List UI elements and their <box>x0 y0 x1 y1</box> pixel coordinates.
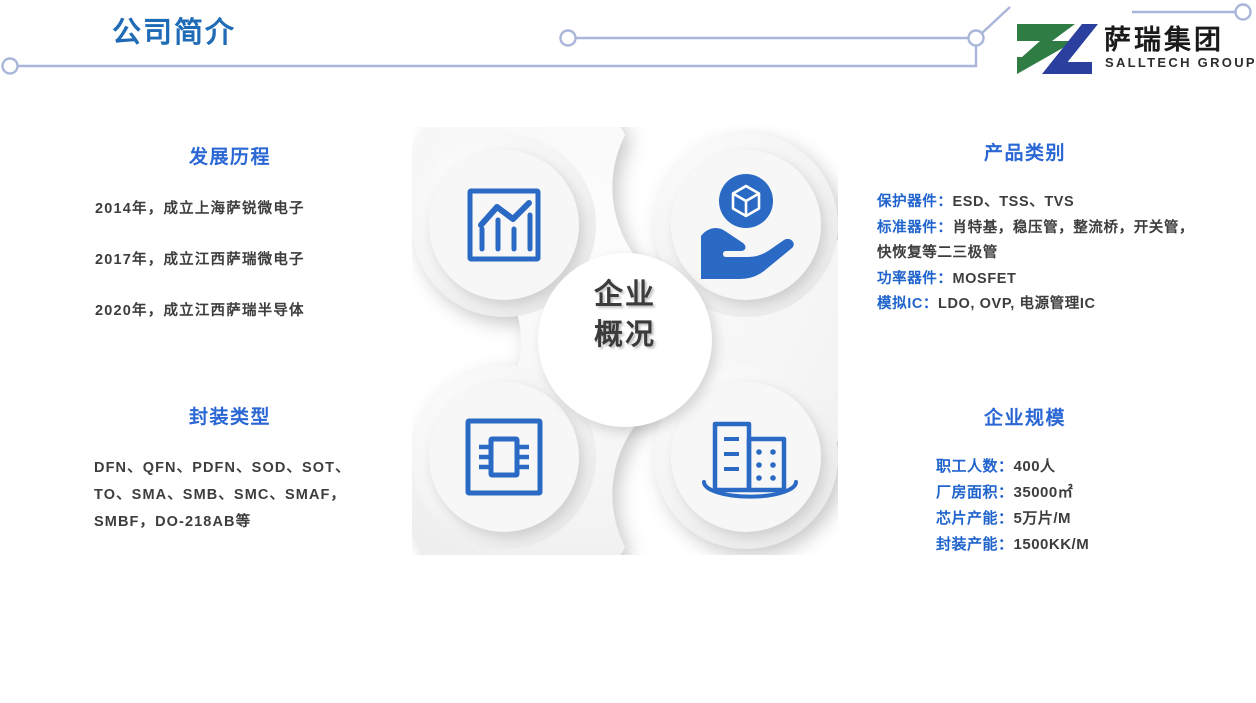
history-list: 2014年，成立上海萨锐微电子 2017年，成立江西萨瑞微电子 2020年，成立… <box>60 197 410 320</box>
lobe-bottom-right <box>671 382 821 532</box>
panel-product-categories: 产品类别 保护器件：ESD、TSS、TVS 标准器件：肖特基，稳压管，整流桥，开… <box>860 138 1210 318</box>
scale-value: 400人 <box>1014 458 1056 475</box>
product-label: 保护器件： <box>877 194 953 210</box>
list-item: 标准器件：肖特基，稳压管，整流桥，开关管，快恢复等二三极管 <box>877 216 1207 267</box>
logo-name-cn: 萨瑞集团 <box>1104 18 1224 57</box>
scale-value: 35000㎡ <box>1014 484 1074 501</box>
list-item: 2020年，成立江西萨瑞半导体 <box>60 299 410 320</box>
panel-heading-scale: 企业规模 <box>860 403 1190 430</box>
product-label: 功率器件： <box>877 271 953 287</box>
product-value: ESD、TSS、TVS <box>953 194 1075 210</box>
list-item: 芯片产能：5万片/M <box>936 506 1210 532</box>
deco-node-junction <box>969 31 984 46</box>
panel-heading-products: 产品类别 <box>860 138 1190 165</box>
list-item: 厂房面积：35000㎡ <box>936 480 1210 506</box>
list-item: 模拟IC：LDO, OVP, 电源管理IC <box>877 292 1207 318</box>
center-label-line2: 概况 <box>560 315 690 355</box>
product-value: MOSFET <box>953 271 1017 287</box>
logo-name-en: SALLTECH GROUP <box>1105 55 1256 70</box>
scale-label: 芯片产能： <box>936 510 1014 527</box>
enterprise-scale-list: 职工人数：400人 厂房面积：35000㎡ 芯片产能：5万片/M 封装产能：15… <box>860 454 1210 558</box>
panel-package-types: 封装类型 DFN、QFN、PDFN、SOD、SOT、TO、SMA、SMB、SMC… <box>60 402 410 536</box>
salltech-logo-mark-icon <box>1012 21 1100 77</box>
lobe-top-left <box>429 150 579 300</box>
scale-value: 1500KK/M <box>1014 536 1090 553</box>
lobe-bottom-left <box>429 382 579 532</box>
scale-label: 厂房面积： <box>936 484 1014 501</box>
list-item: 2014年，成立上海萨锐微电子 <box>60 197 410 218</box>
page-title: 公司简介 <box>112 9 236 51</box>
package-types-text: DFN、QFN、PDFN、SOD、SOT、TO、SMA、SMB、SMC、SMAF… <box>60 455 362 536</box>
list-item: 2017年，成立江西萨瑞微电子 <box>60 248 410 269</box>
product-label: 模拟IC： <box>877 296 938 312</box>
product-value: LDO, OVP, 电源管理IC <box>938 296 1096 312</box>
product-label: 标准器件： <box>877 220 953 236</box>
panel-enterprise-scale: 企业规模 职工人数：400人 厂房面积：35000㎡ 芯片产能：5万片/M 封装… <box>860 403 1210 558</box>
list-item: 封装产能：1500KK/M <box>936 532 1210 558</box>
company-logo: 萨瑞集团 SALLTECH GROUP <box>1012 18 1248 80</box>
enterprise-overview-diagram: 企业 概况 <box>412 127 838 555</box>
panel-heading-history: 发展历程 <box>60 142 400 169</box>
scale-label: 职工人数： <box>936 458 1014 475</box>
scale-value: 5万片/M <box>1014 510 1072 527</box>
product-categories-list: 保护器件：ESD、TSS、TVS 标准器件：肖特基，稳压管，整流桥，开关管，快恢… <box>860 190 1207 318</box>
scale-label: 封装产能： <box>936 536 1014 553</box>
deco-node-mid <box>561 31 576 46</box>
panel-heading-package: 封装类型 <box>60 402 400 429</box>
diagram-center-label: 企业 概况 <box>560 275 690 355</box>
list-item: 保护器件：ESD、TSS、TVS <box>877 190 1207 216</box>
panel-development-history: 发展历程 2014年，成立上海萨锐微电子 2017年，成立江西萨瑞微电子 202… <box>60 142 410 350</box>
list-item: 职工人数：400人 <box>936 454 1210 480</box>
center-label-line1: 企业 <box>560 275 690 315</box>
list-item: 功率器件：MOSFET <box>877 267 1207 293</box>
deco-node-left <box>3 59 18 74</box>
slide-header: 公司简介 萨瑞集团 SALLTECH GROUP <box>0 0 1256 96</box>
